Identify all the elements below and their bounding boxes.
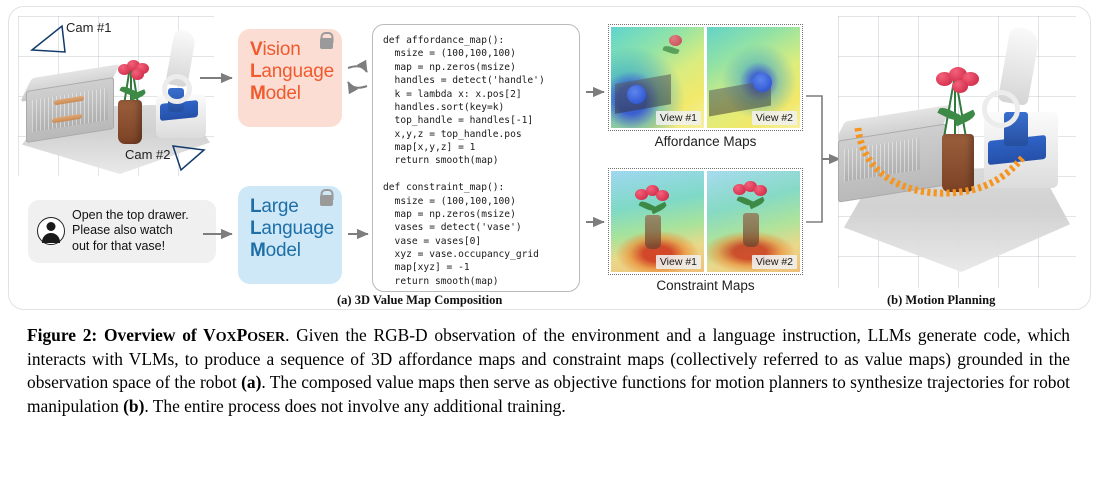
generated-code-text: def affordance_map(): msize = (100,100,1… [383,34,571,292]
affordance-target-dot-1 [627,85,646,104]
llm-line-1: Large [250,196,330,218]
cam2-label: Cam #2 [125,147,171,162]
affordance-map-view1[interactable]: View #1 [611,27,704,128]
instruction-line-1: Open the top drawer. [72,208,189,223]
figure-label: Figure 2: [27,325,97,345]
input-scene-panel: Cam #1 Cam #2 [18,16,214,176]
affordance-target-dot-2 [753,73,772,92]
figure-root: Cam #1 Cam #2 Open the top drawer. Pleas… [0,0,1097,479]
constraint-maps-row: View #1 View #2 [608,168,803,275]
affordance-view-tag-2: View #2 [752,111,797,125]
vlm-line-1: Vision [250,39,330,61]
affordance-maps-caption: Affordance Maps [608,134,803,149]
llm-line-2: Language [250,218,330,240]
vlm-line-3: Model [250,83,330,105]
constraint-vase-1 [645,215,661,249]
constraint-flowers-2 [733,181,771,213]
figure-caption: Figure 2: Overview of VOXPOSER. Given th… [27,324,1070,418]
figure-title-prefix: Overview of [104,325,203,345]
lock-icon [320,195,333,206]
cam2-frustum-icon [173,146,204,170]
language-instruction-bubble: Open the top drawer. Please also watch o… [28,200,216,263]
generated-code-box[interactable]: def affordance_map(): msize = (100,100,1… [372,24,580,292]
constraint-view-tag-2: View #2 [752,255,797,269]
llm-line-3: Model [250,240,330,262]
constraint-map-view1[interactable]: View #1 [611,171,704,272]
instruction-line-3: out for that vase! [72,239,189,254]
person-icon [37,217,65,245]
subcaption-a: (a) 3D Value Map Composition [337,293,502,308]
figure-body-3: . The entire process does not involve an… [144,396,565,416]
cam1-frustum-icon [32,26,65,52]
constraint-maps-group: View #1 View #2 Constraint Maps [608,168,803,293]
planned-trajectory [854,122,1054,202]
cam1-label: Cam #1 [66,20,112,35]
affordance-maps-row: View #1 View #2 [608,24,803,131]
instruction-line-2: Please also watch [72,223,189,238]
affordance-view-tag-1: View #1 [656,111,701,125]
camera-frustum-icons [18,16,214,176]
large-language-model-box[interactable]: Large Language Model [238,186,342,284]
lock-icon [320,38,333,49]
figure-ref-b: (b) [123,396,144,416]
figure-title-name: VOXPOSER [203,325,285,345]
constraint-vase-2 [743,213,759,247]
affordance-flowers-1 [663,33,701,65]
constraint-flowers-1 [635,185,673,217]
affordance-maps-group: View #1 View #2 Affordance Maps [608,24,803,149]
affordance-map-view2[interactable]: View #2 [707,27,800,128]
subcaption-b: (b) Motion Planning [887,293,995,308]
constraint-map-view2[interactable]: View #2 [707,171,800,272]
motion-planning-panel [838,16,1076,288]
vision-language-model-box[interactable]: Vision Language Model [238,29,342,127]
figure-ref-a: (a) [241,372,261,392]
constraint-view-tag-1: View #1 [656,255,701,269]
constraint-maps-caption: Constraint Maps [608,278,803,293]
instruction-text: Open the top drawer. Please also watch o… [72,208,189,254]
vlm-line-2: Language [250,61,330,83]
